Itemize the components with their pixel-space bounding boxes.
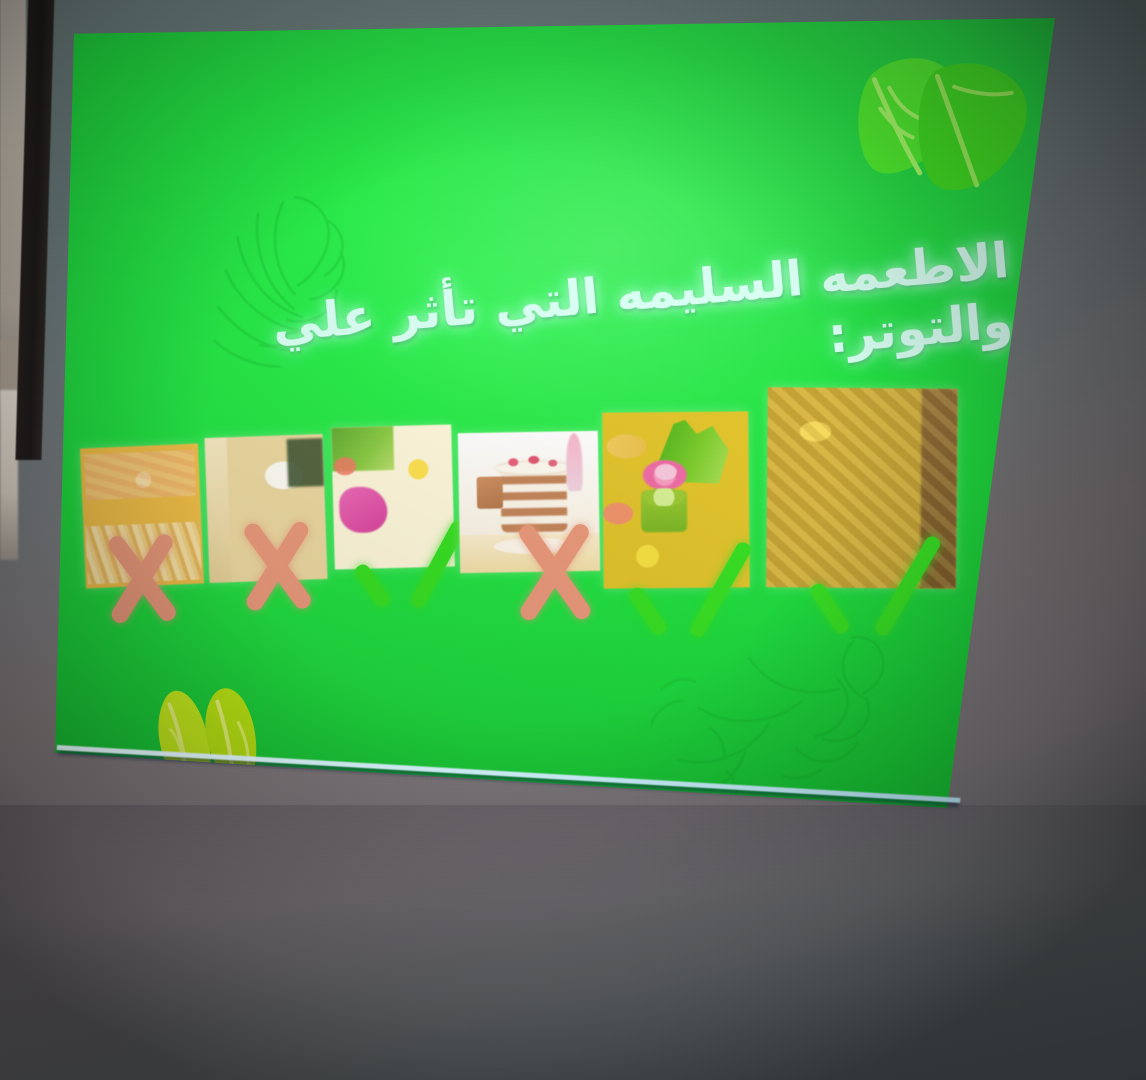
room-photograph: الاطعمه السليمه التي تأثر علي القلق والت…	[0, 0, 1146, 1080]
lower-wall-shadow	[0, 805, 1146, 1080]
food-thumbnail-fried-food	[80, 443, 204, 588]
food-item-fried-food[interactable]	[80, 443, 204, 588]
food-image-row	[55, 18, 1055, 808]
food-item-layer-cake[interactable]	[458, 431, 600, 573]
food-thumbnail-layer-cake	[458, 431, 600, 573]
food-item-pastries-donuts[interactable]	[205, 434, 328, 583]
food-thumbnail-eggs-vegetables	[331, 424, 455, 569]
food-item-fruits-vegetables[interactable]	[602, 411, 750, 588]
food-item-eggs-vegetables[interactable]	[331, 424, 455, 569]
food-thumbnail-nuts-legumes	[766, 387, 958, 589]
presentation-slide: الاطعمه السليمه التي تأثر علي القلق والت…	[55, 18, 1055, 808]
food-thumbnail-fruits-vegetables	[602, 411, 750, 588]
food-thumbnail-pastries-donuts	[205, 434, 328, 583]
food-item-nuts-legumes[interactable]	[766, 387, 958, 589]
